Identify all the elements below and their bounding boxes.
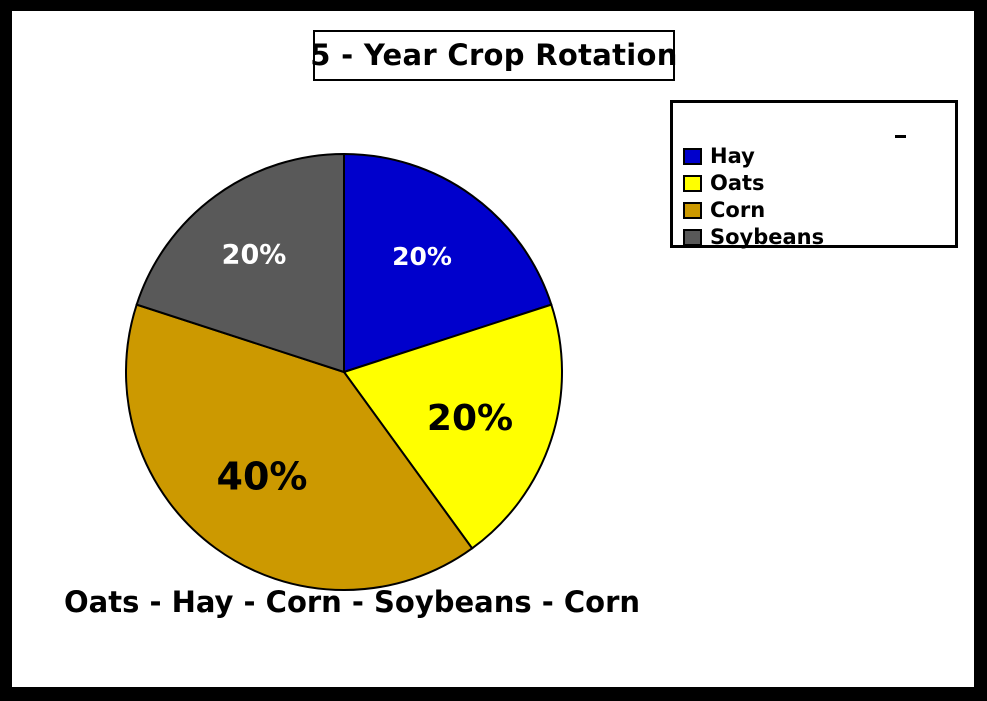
pie-label-hay: 20% — [392, 242, 452, 271]
legend-label-corn: Corn — [710, 200, 765, 221]
chart-title-box: 5 - Year Crop Rotation — [313, 30, 675, 81]
legend-label-oats: Oats — [710, 173, 765, 194]
legend-item-oats[interactable]: Oats — [683, 170, 824, 197]
legend-label-soybeans: Soybeans — [710, 227, 824, 248]
pie-slice-group — [126, 154, 562, 590]
pie-label-soybeans: 20% — [222, 240, 287, 271]
rotation-sequence-caption: Oats - Hay - Corn - Soybeans - Corn — [64, 588, 640, 617]
pie-chart: 20%20%40%20% — [116, 144, 572, 600]
chart-title: 5 - Year Crop Rotation — [310, 41, 677, 70]
legend-dash-mark — [895, 135, 906, 138]
pie-label-corn: 40% — [217, 455, 308, 499]
chart-outer-frame: 5 - Year Crop Rotation Hay Oats Corn — [0, 0, 987, 701]
legend-swatch-hay — [683, 148, 702, 165]
legend-item-list: Hay Oats Corn Soybeans — [683, 143, 824, 251]
pie-chart-svg: 20%20%40%20% — [116, 144, 572, 600]
legend-swatch-corn — [683, 202, 702, 219]
legend-swatch-soybeans — [683, 229, 702, 246]
legend-item-hay[interactable]: Hay — [683, 143, 824, 170]
legend-label-hay: Hay — [710, 146, 755, 167]
pie-label-oats: 20% — [427, 398, 513, 439]
chart-legend: Hay Oats Corn Soybeans — [670, 100, 958, 248]
legend-item-corn[interactable]: Corn — [683, 197, 824, 224]
legend-swatch-oats — [683, 175, 702, 192]
chart-canvas: 5 - Year Crop Rotation Hay Oats Corn — [12, 11, 974, 687]
legend-item-soybeans[interactable]: Soybeans — [683, 224, 824, 251]
